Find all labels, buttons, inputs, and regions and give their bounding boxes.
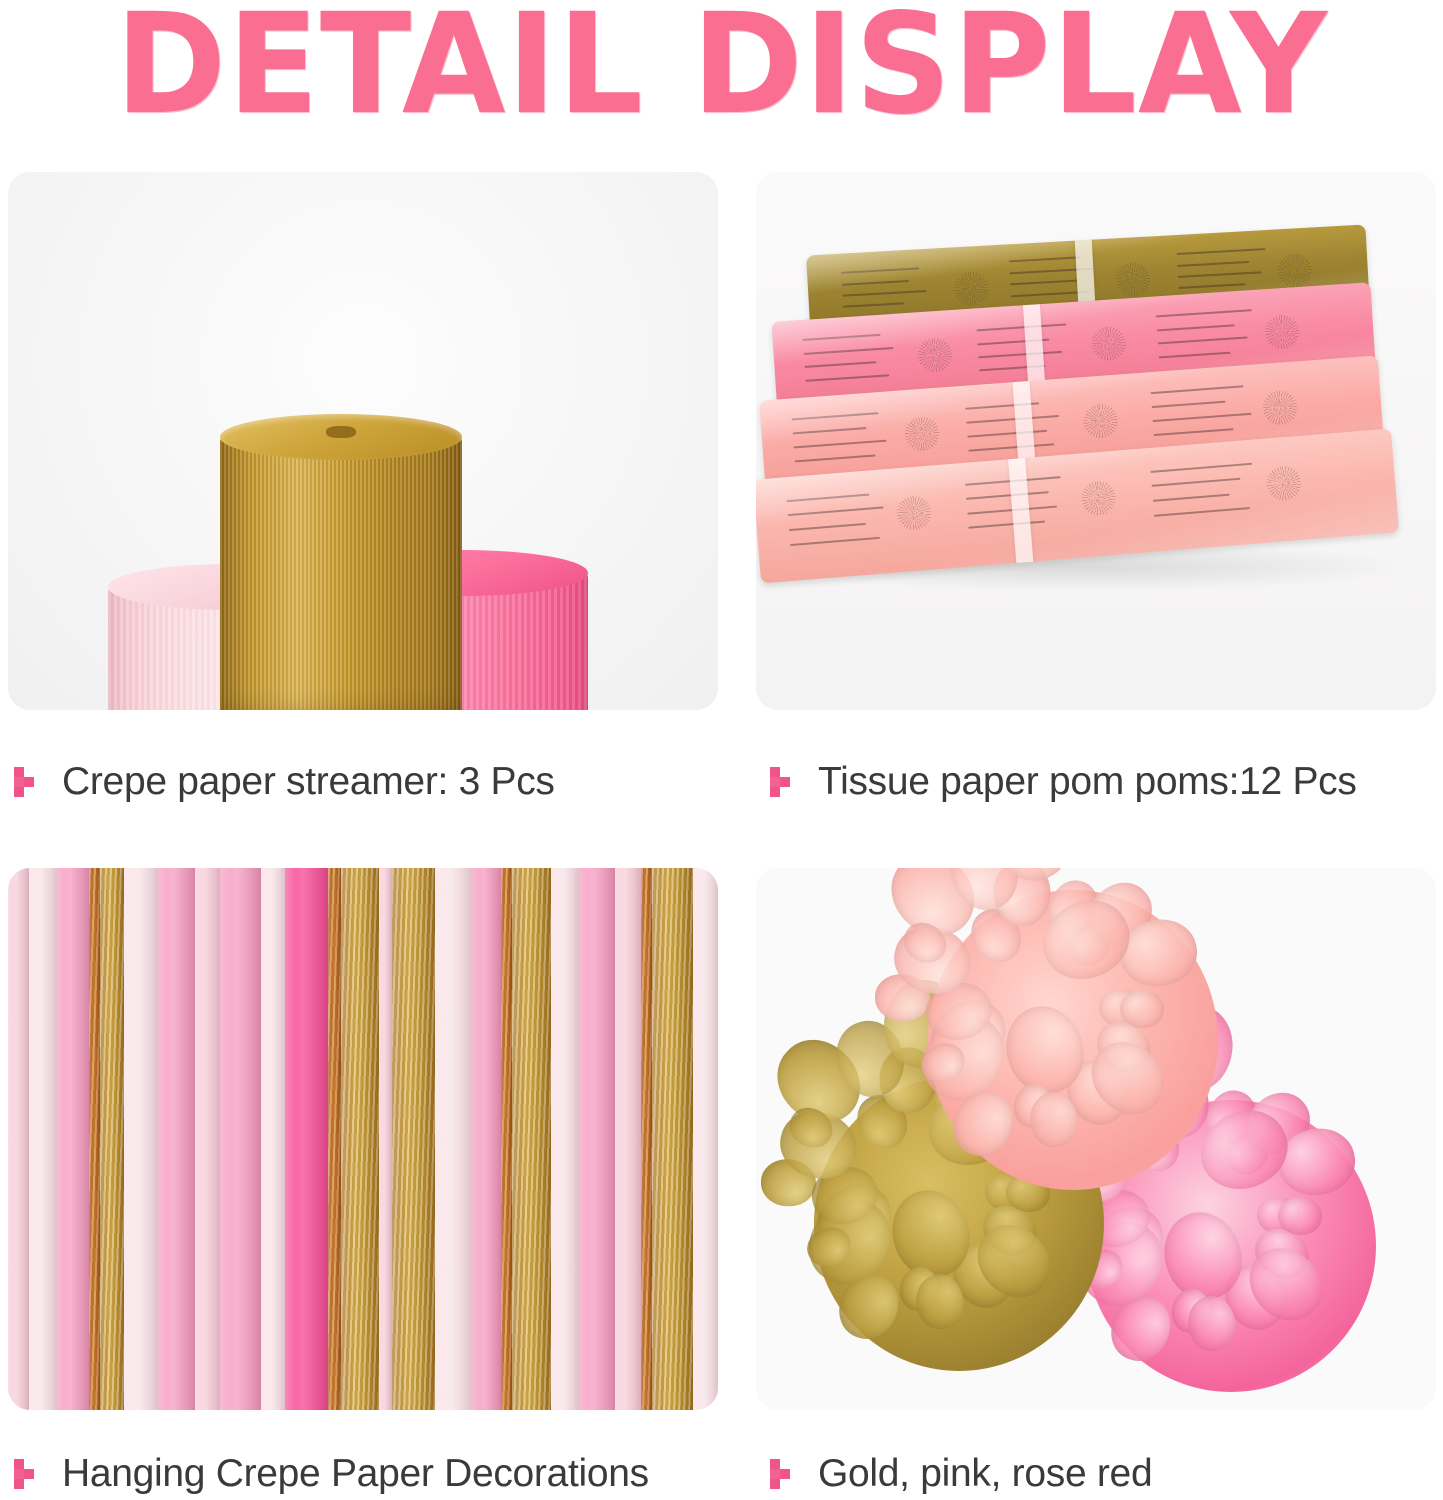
- streamer-strip: [472, 868, 500, 1410]
- streamer-strip: [579, 868, 615, 1410]
- streamer-strip: [392, 868, 435, 1410]
- roll-top: [220, 414, 462, 460]
- caption-tissue-pom-poms: Tissue paper pom poms:12 Pcs: [770, 752, 1430, 812]
- product-image-tissue-pom-poms: [756, 868, 1436, 1410]
- streamer-strip: [641, 868, 652, 1410]
- streamer-strip: [100, 868, 124, 1410]
- streamer-strip: [220, 868, 261, 1410]
- streamer-strip: [551, 868, 579, 1410]
- streamer-strip: [435, 868, 472, 1410]
- caption-text: Gold, pink, rose red: [818, 1452, 1152, 1496]
- product-image-hanging-streamer-backdrop: [8, 868, 718, 1410]
- streamer-strip: [124, 868, 158, 1410]
- detail-display-page: DETAIL DISPLAY: [0, 0, 1443, 1500]
- caption-crepe-streamer: Crepe paper streamer: 3 Pcs: [14, 752, 714, 812]
- streamer-strip: [158, 868, 195, 1410]
- streamer-strip: [341, 868, 378, 1410]
- streamer-strip: [29, 868, 57, 1410]
- caption-colors: Gold, pink, rose red: [770, 1448, 1430, 1500]
- peach-pom-pom: [928, 890, 1218, 1190]
- pixel-arrow-bullet-icon: [770, 1459, 796, 1489]
- pom-poms-photo: [756, 868, 1436, 1410]
- streamer-strip: [285, 868, 328, 1410]
- streamer-strip: [261, 868, 285, 1410]
- roll-body: [220, 436, 462, 710]
- caption-text: Hanging Crepe Paper Decorations: [62, 1452, 649, 1496]
- streamer-strip: [8, 868, 29, 1410]
- caption-hanging-decorations: Hanging Crepe Paper Decorations: [14, 1448, 714, 1500]
- caption-text: Crepe paper streamer: 3 Pcs: [62, 760, 555, 804]
- tissue-packs-photo: [756, 172, 1436, 710]
- streamer-strip: [379, 868, 392, 1410]
- pixel-arrow-bullet-icon: [14, 1459, 40, 1489]
- streamer-strip: [57, 868, 89, 1410]
- streamer-strip: [89, 868, 100, 1410]
- product-image-crepe-streamer-rolls: [8, 172, 718, 710]
- gold-roll: [220, 414, 462, 710]
- page-header: DETAIL DISPLAY: [0, 0, 1443, 130]
- page-title: DETAIL DISPLAY: [115, 2, 1328, 127]
- pixel-arrow-bullet-icon: [14, 767, 40, 797]
- pom-petal: [1277, 1197, 1321, 1235]
- streamer-strip: [501, 868, 512, 1410]
- streamer-strip: [195, 868, 219, 1410]
- streamer-strip: [328, 868, 341, 1410]
- pixel-arrow-bullet-icon: [770, 767, 796, 797]
- streamer-strip: [512, 868, 551, 1410]
- pom-petal: [1119, 990, 1163, 1028]
- streamer-strip: [652, 868, 693, 1410]
- product-image-tissue-paper-packs: [756, 172, 1436, 710]
- caption-text: Tissue paper pom poms:12 Pcs: [818, 760, 1357, 804]
- pom-petals: [928, 890, 1218, 1190]
- crepe-rolls-photo: [8, 172, 718, 710]
- streamer-backdrop-photo: [8, 868, 718, 1410]
- streamer-strip: [615, 868, 641, 1410]
- streamer-strip: [693, 868, 717, 1410]
